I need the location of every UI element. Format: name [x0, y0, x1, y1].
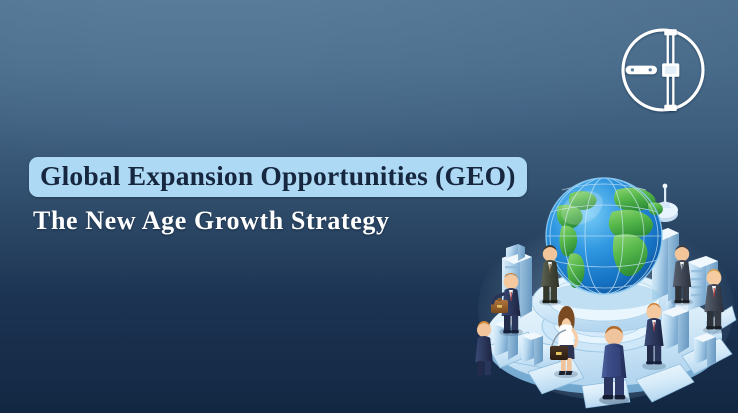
page-title: Global Expansion Opportunities (GEO) [40, 161, 516, 191]
banner-hero: Global Expansion Opportunities (GEO) The… [0, 0, 738, 413]
circle-bar-logo-icon[interactable] [619, 25, 709, 115]
page-title-highlight: Global Expansion Opportunities (GEO) [29, 157, 527, 197]
isometric-globe [546, 178, 663, 310]
global-business-globe-illustration [466, 150, 738, 413]
